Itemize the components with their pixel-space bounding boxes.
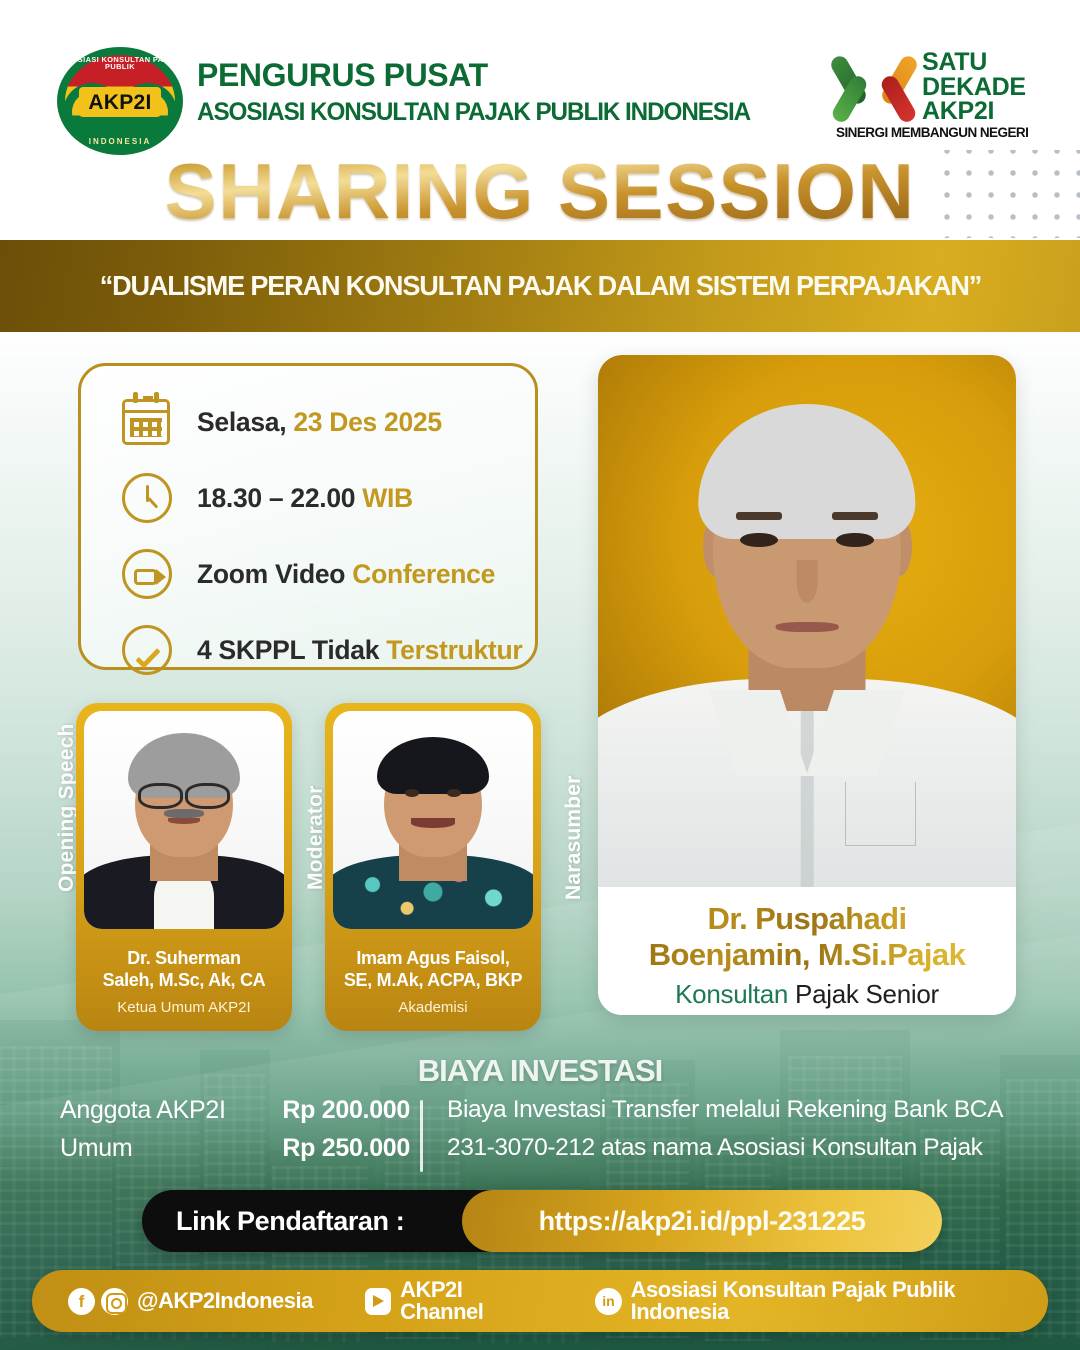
speaker-name-block-opening: Dr. Suherman Saleh, M.Sc, Ak, CA Ketua U… <box>76 948 292 1017</box>
header-title-group: PENGURUS PUSAT ASOSIASI KONSULTAN PAJAK … <box>197 58 767 126</box>
speaker-photo-moderator <box>333 711 533 929</box>
speaker-name-line2-opening: Saleh, M.Sc, Ak, CA <box>76 970 292 992</box>
org-title-secondary: ASOSIASI KONSULTAN PAJAK PUBLIK INDONESI… <box>197 98 750 126</box>
detail-row-platform: Zoom Video Conference <box>119 542 535 606</box>
event-credits-plain: 4 SKPPL Tidak <box>197 635 379 665</box>
detail-row-date: Selasa, 23 Des 2025 <box>119 390 535 454</box>
event-topic: “DUALISME PERAN KONSULTAN PAJAK DALAM SI… <box>99 272 980 300</box>
akp2i-logo-icon: ASOSIASI KONSULTAN PAJAK PUBLIK AKP2I IN… <box>57 47 183 155</box>
video-camera-icon <box>119 548 175 600</box>
detail-row-time: 18.30 – 22.00 WIB <box>119 466 535 530</box>
fee-label-public: Umum <box>60 1136 132 1161</box>
event-platform-gold: Conference <box>352 559 495 589</box>
registration-link-bar[interactable]: Link Pendaftaran : https://akp2i.id/ppl-… <box>142 1190 942 1252</box>
youtube-icon[interactable] <box>365 1288 391 1315</box>
dekade-tagline: SINERGI MEMBANGUN NEGERI <box>836 126 1032 140</box>
youtube-channel-text: AKP2I Channel <box>400 1279 547 1323</box>
bank-line-2: 231-3070-212 atas nama Asosiasi Konsulta… <box>447 1136 1003 1174</box>
label-opening-speech: Opening Speech <box>56 712 77 892</box>
fee-value-public: Rp 250.000 <box>282 1136 410 1161</box>
speaker-role-narasumber-dark: Pajak Senior <box>795 979 939 1009</box>
registration-label: Link Pendaftaran : <box>176 1208 404 1235</box>
poster-root: ASOSIASI KONSULTAN PAJAK PUBLIK AKP2I IN… <box>0 0 1080 1350</box>
social-footer-bar: f @AKP2Indonesia AKP2I Channel in Asosia… <box>32 1270 1048 1332</box>
event-platform-plain: Zoom Video <box>197 559 345 589</box>
label-moderator: Moderator <box>305 760 326 890</box>
fees-divider <box>420 1100 423 1172</box>
social-group-handles[interactable]: f @AKP2Indonesia <box>62 1288 313 1315</box>
bank-line-1: Biaya Investasi Transfer melalui Rekenin… <box>447 1098 1003 1136</box>
fees-price-list: Anggota AKP2I Rp 200.000 Umum Rp 250.000 <box>60 1098 410 1174</box>
speaker-card-moderator: Imam Agus Faisol, SE, M.Ak, ACPA, BKP Ak… <box>325 703 541 1031</box>
speaker-card-opening: Dr. Suherman Saleh, M.Sc, Ak, CA Ketua U… <box>76 703 292 1031</box>
logo-wordmark: AKP2I <box>79 87 161 117</box>
fees-section: Anggota AKP2I Rp 200.000 Umum Rp 250.000… <box>0 1098 1080 1178</box>
speaker-name-line1-moderator: Imam Agus Faisol, <box>325 948 541 970</box>
clock-icon <box>119 472 175 524</box>
event-date-gold: 23 Des 2025 <box>293 407 441 437</box>
speaker-photo-narasumber <box>598 355 1016 895</box>
satu-dekade-logo: SATU DEKADE AKP2I SINERGI MEMBANGUN NEGE… <box>836 50 1026 145</box>
dekade-text-group: SATU DEKADE AKP2I <box>922 50 1026 124</box>
page-header: ASOSIASI KONSULTAN PAJAK PUBLIK AKP2I IN… <box>0 0 1080 150</box>
fee-label-member: Anggota AKP2I <box>60 1098 226 1123</box>
event-credits-gold: Terstruktur <box>386 635 522 665</box>
bank-transfer-info: Biaya Investasi Transfer melalui Rekenin… <box>447 1098 1003 1174</box>
speaker-role-opening: Ketua Umum AKP2I <box>76 999 292 1017</box>
speaker-role-narasumber-green: Konsultan <box>675 979 788 1009</box>
speaker-role-moderator: Akademisi <box>325 999 541 1017</box>
detail-row-credits: 4 SKPPL Tidak Terstruktur <box>119 618 535 682</box>
registration-url[interactable]: https://akp2i.id/ppl-231225 <box>539 1208 866 1235</box>
speaker-name-block-narasumber: Dr. Puspahadi Boenjamin, M.Si.Pajak Kons… <box>598 887 1016 1015</box>
dekade-line-akp2i: AKP2I <box>922 99 1026 124</box>
event-details-box: Selasa, 23 Des 2025 18.30 – 22.00 WIB Zo… <box>78 363 538 670</box>
speaker-photo-opening <box>84 711 284 929</box>
speaker-name-line2-moderator: SE, M.Ak, ACPA, BKP <box>325 970 541 992</box>
registration-url-pill[interactable]: https://akp2i.id/ppl-231225 <box>462 1190 942 1252</box>
social-group-youtube[interactable]: AKP2I Channel <box>359 1279 547 1323</box>
linkedin-icon[interactable]: in <box>595 1288 621 1315</box>
social-group-linkedin[interactable]: in Asosiasi Konsultan Pajak Publik Indon… <box>589 1279 1048 1323</box>
instagram-icon[interactable] <box>101 1288 128 1315</box>
dekade-x-mark-icon <box>836 52 914 124</box>
label-narasumber: Narasumber <box>563 740 584 900</box>
speaker-card-narasumber: Dr. Puspahadi Boenjamin, M.Si.Pajak Kons… <box>598 355 1016 1015</box>
logo-arc-bottom-text: INDONESIA <box>57 138 183 146</box>
dekade-line-dekade: DEKADE <box>922 75 1026 100</box>
social-handle-text: @AKP2Indonesia <box>137 1290 313 1312</box>
fees-heading: BIAYA INVESTASI <box>0 1055 1080 1086</box>
speaker-name-line1-narasumber: Dr. Puspahadi <box>598 901 1016 937</box>
event-time-zone: WIB <box>362 483 413 513</box>
fee-row-public: Umum Rp 250.000 <box>60 1136 410 1174</box>
event-date-plain: Selasa, <box>197 407 286 437</box>
event-time-plain: 18.30 – 22.00 <box>197 483 355 513</box>
fee-row-member: Anggota AKP2I Rp 200.000 <box>60 1098 410 1136</box>
dekade-line-satu: SATU <box>922 50 1026 75</box>
logo-arc-top-text: ASOSIASI KONSULTAN PAJAK PUBLIK <box>57 56 183 71</box>
fee-value-member: Rp 200.000 <box>282 1098 410 1123</box>
event-headline: SHARING SESSION <box>0 152 1080 230</box>
check-circle-icon <box>119 624 175 676</box>
speaker-name-block-moderator: Imam Agus Faisol, SE, M.Ak, ACPA, BKP Ak… <box>325 948 541 1017</box>
org-title-primary: PENGURUS PUSAT <box>197 58 767 93</box>
calendar-icon <box>119 396 175 448</box>
topic-band: “DUALISME PERAN KONSULTAN PAJAK DALAM SI… <box>0 240 1080 332</box>
speaker-name-line1-opening: Dr. Suherman <box>76 948 292 970</box>
linkedin-text: Asosiasi Konsultan Pajak Publik Indonesi… <box>631 1279 1048 1323</box>
speaker-name-line2-narasumber: Boenjamin, M.Si.Pajak <box>598 937 1016 973</box>
facebook-icon[interactable]: f <box>68 1288 95 1315</box>
